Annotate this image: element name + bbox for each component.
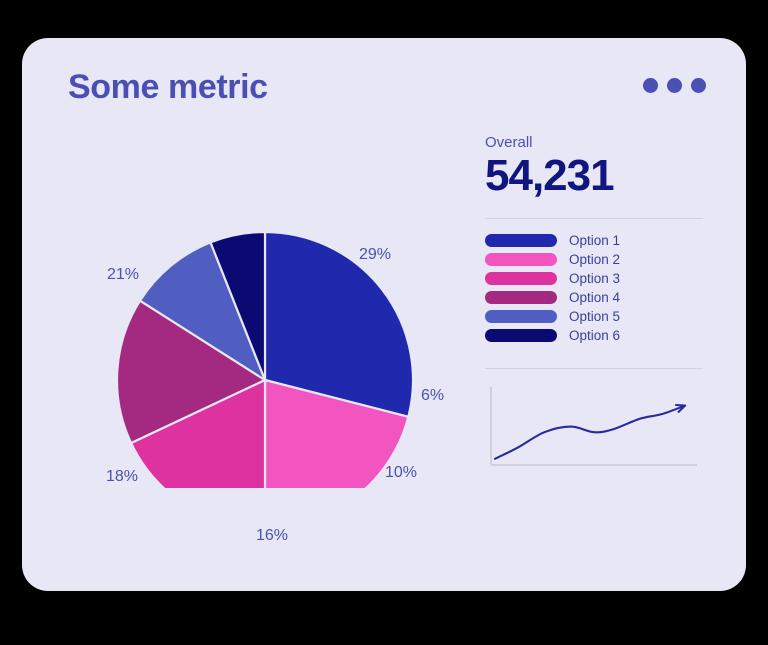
legend-item[interactable]: Option 3 [485,271,715,286]
pie-chart-panel: 29%21%18%16%10%6% [22,158,472,578]
legend-item-label: Option 2 [569,252,620,267]
legend-item[interactable]: Option 6 [485,328,715,343]
trend-sparkline[interactable] [485,383,703,473]
legend-item[interactable]: Option 2 [485,252,715,267]
pie-slice-label: 21% [107,266,139,284]
three-dots-icon[interactable] [643,78,706,93]
legend-item-label: Option 6 [569,328,620,343]
menu-dot-3 [691,78,706,93]
sparkline-block [485,368,715,473]
summary-panel: Overall 54,231 Option 1Option 2Option 3O… [485,134,715,473]
legend: Option 1Option 2Option 3Option 4Option 5… [485,233,715,343]
pie-slice-label: 10% [385,464,417,482]
legend-item[interactable]: Option 4 [485,290,715,305]
legend-item[interactable]: Option 5 [485,309,715,324]
sparkline-divider [485,368,703,369]
legend-item-label: Option 3 [569,271,620,286]
legend-swatch [485,310,557,323]
legend-swatch [485,272,557,285]
legend-item-label: Option 4 [569,290,620,305]
sparkline-path [495,405,685,458]
menu-dot-2 [667,78,682,93]
legend-swatch [485,329,557,342]
overall-label: Overall [485,134,715,151]
page-title: Some metric [68,68,268,107]
legend-swatch [485,234,557,247]
legend-item-label: Option 1 [569,233,620,248]
pie-slice-label: 16% [256,527,288,545]
pie-slices [117,232,413,488]
pie-slice-label: 18% [106,468,138,486]
menu-dot-1 [643,78,658,93]
legend-item[interactable]: Option 1 [485,233,715,248]
legend-item-label: Option 5 [569,309,620,324]
overall-value: 54,231 [485,152,715,200]
pie-slice-label: 29% [359,246,391,264]
screenshot-root: Some metric 29%21%18%16%10%6% Overall 54… [0,0,768,645]
divider [485,218,703,219]
pie-slice-label: 6% [421,387,444,405]
pie-chart[interactable] [22,158,472,488]
legend-swatch [485,253,557,266]
metric-card: Some metric 29%21%18%16%10%6% Overall 54… [22,38,746,591]
legend-swatch [485,291,557,304]
